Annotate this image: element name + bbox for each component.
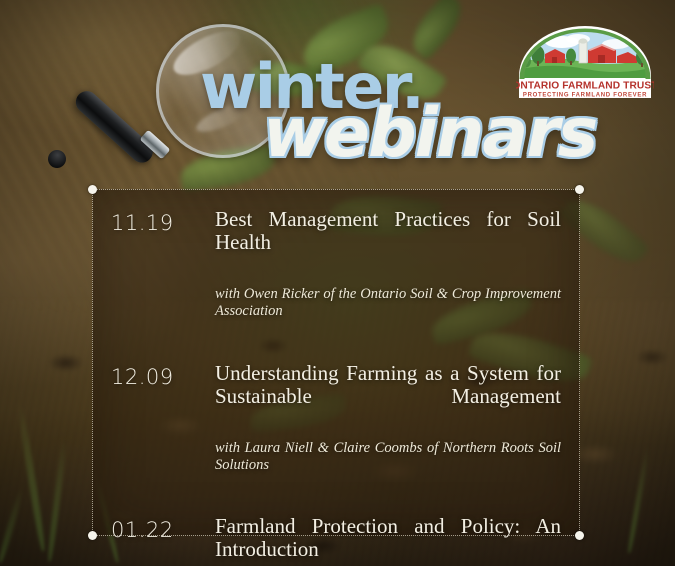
webinar-title: Best Management Practices for Soil Healt… — [215, 208, 561, 277]
webinar-title: Understanding Farming as a System for Su… — [215, 362, 561, 431]
webinar-list-item: 11.19 Best Management Practices for Soil… — [111, 208, 561, 338]
webinar-details: Best Management Practices for Soil Healt… — [215, 208, 561, 338]
webinar-list: 11.19 Best Management Practices for Soil… — [93, 190, 579, 535]
title-webinars: webinars — [263, 100, 596, 168]
webinar-schedule-panel: 11.19 Best Management Practices for Soil… — [92, 189, 580, 536]
webinar-date: 11.19 — [111, 208, 215, 235]
webinar-date: 01.22 — [111, 515, 215, 542]
logo-tagline: PROTECTING FARMLAND FOREVER — [523, 93, 647, 99]
logo-org-name: ONTARIO FARMLAND TRUST — [516, 81, 654, 92]
webinar-list-item: 01.22 Farmland Protection and Policy: An… — [111, 515, 561, 566]
webinar-speaker: with Laura Niell & Claire Coombs of Nort… — [215, 440, 561, 491]
webinar-title: Farmland Protection and Policy: An Intro… — [215, 515, 561, 566]
webinar-details: Farmland Protection and Policy: An Intro… — [215, 515, 561, 566]
webinar-date: 12.09 — [111, 362, 215, 389]
poster-title: winter. webinars — [0, 56, 540, 176]
webinar-list-item: 12.09 Understanding Farming as a System … — [111, 362, 561, 492]
webinar-details: Understanding Farming as a System for Su… — [215, 362, 561, 492]
webinar-speaker: with Owen Ricker of the Ontario Soil & C… — [215, 286, 561, 337]
ontario-farmland-trust-logo: ONTARIO FARMLAND TRUST PROTECTING FARMLA… — [516, 24, 654, 100]
winter-webinars-poster: winter. webinars — [0, 0, 675, 566]
